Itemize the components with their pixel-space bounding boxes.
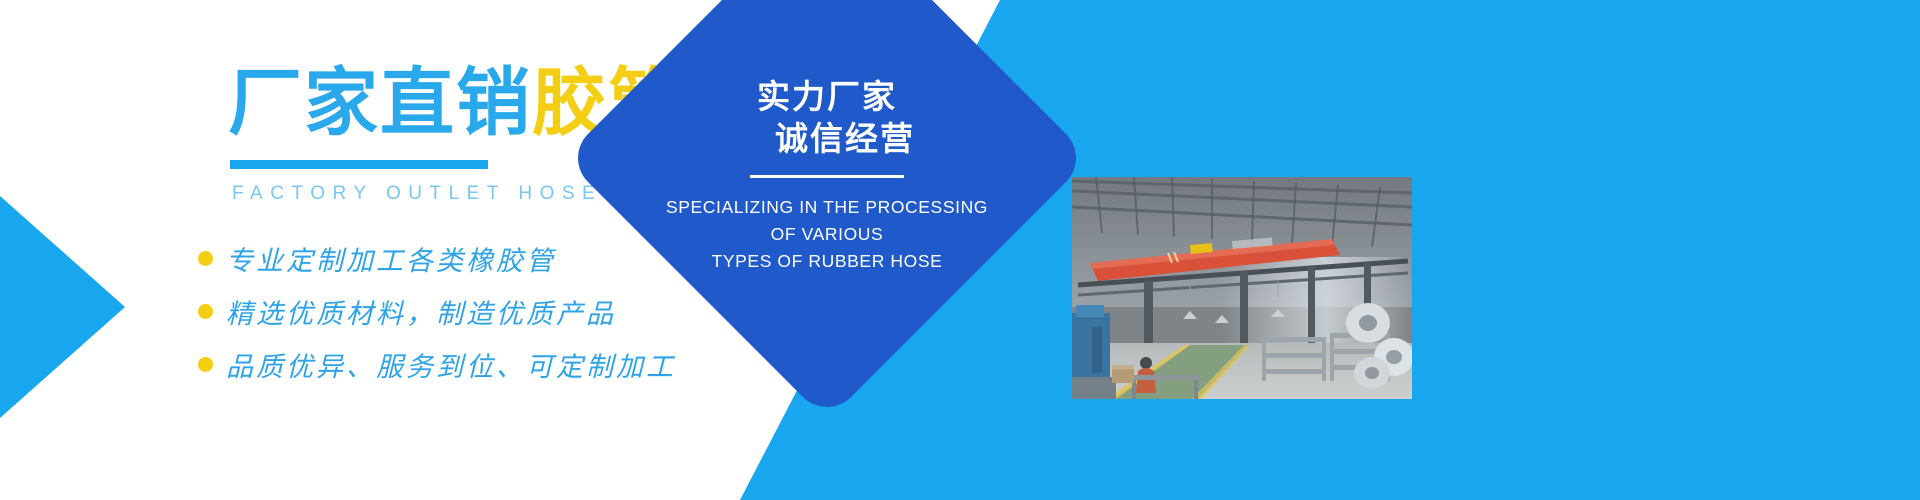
bullet-text: 精选优质材料，制造优质产品	[226, 292, 616, 331]
bullet-dot-icon	[198, 251, 213, 266]
factory-photo	[1072, 177, 1412, 399]
factory-photo-illustration	[1072, 177, 1412, 399]
bullet-dot-icon	[198, 357, 213, 372]
headline-part-blue: 厂家直销	[228, 61, 532, 144]
promotional-banner: 厂家直销胶管 FACTORY OUTLET HOSE 专业定制加工各类橡胶管 精…	[0, 0, 1920, 500]
list-item: 精选优质材料，制造优质产品	[198, 290, 748, 333]
left-chevron-arrow	[0, 196, 168, 418]
bullet-dot-icon	[198, 304, 213, 319]
headline-underline-rule	[230, 160, 488, 169]
bullet-text: 品质优异、服务到位、可定制加工	[226, 345, 676, 384]
list-item: 品质优异、服务到位、可定制加工	[198, 343, 748, 386]
bullet-text: 专业定制加工各类橡胶管	[226, 239, 556, 278]
